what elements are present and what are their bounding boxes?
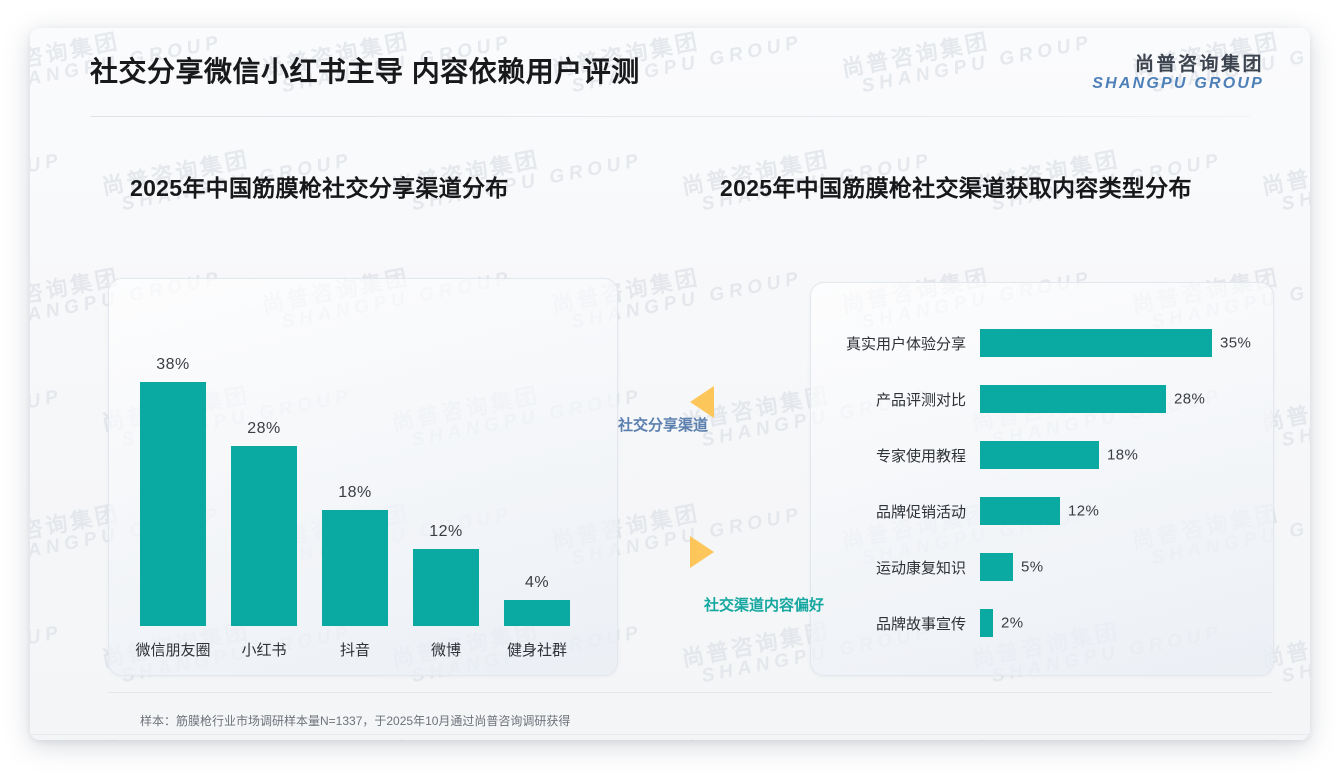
- chart-title-right: 2025年中国筋膜枪社交渠道获取内容类型分布: [720, 169, 1192, 203]
- bar-fill[interactable]: [980, 385, 1166, 413]
- column-bar-wrapper: 38%: [140, 382, 206, 626]
- bar-track: 28%: [980, 384, 1272, 414]
- bar-fill[interactable]: [980, 329, 1212, 357]
- column-category-label: 微博: [397, 639, 495, 660]
- bar-fill[interactable]: [980, 553, 1013, 581]
- slide-header: 社交分享微信小红书主导 内容依赖用户评测 尚普咨询集团 SHANGPU GROU…: [30, 28, 1310, 118]
- bar-category-label: 专家使用教程: [810, 445, 980, 466]
- watermark-text: 尚普咨询集团SHANGPU GROUP: [30, 600, 65, 690]
- bar-category-label: 运动康复知识: [810, 557, 980, 578]
- column-bar-wrapper: 4%: [504, 600, 570, 626]
- bar-track: 12%: [980, 496, 1272, 526]
- bar-row: 品牌故事宣传2%: [810, 608, 1272, 638]
- sample-footnote: 样本：筋膜枪行业市场调研样本量N=1337，于2025年10月通过尚普咨询调研获…: [140, 712, 570, 729]
- bar-row: 真实用户体验分享35%: [810, 328, 1272, 358]
- header-divider: [90, 116, 1250, 117]
- brand-logo: 尚普咨询集团 SHANGPU GROUP: [1092, 54, 1264, 93]
- column-category-label: 微信朋友圈: [124, 639, 222, 660]
- column-item: 38%微信朋友圈: [140, 278, 206, 674]
- slide-canvas: 尚普咨询集团SHANGPU GROUP尚普咨询集团SHANGPU GROUP尚普…: [30, 28, 1310, 740]
- chart-title-left: 2025年中国筋膜枪社交分享渠道分布: [130, 169, 509, 203]
- bar-category-label: 产品评测对比: [810, 389, 980, 410]
- column-bar-wrapper: 28%: [231, 446, 297, 626]
- watermark-text: 尚普咨询集团SHANGPU GROUP: [30, 364, 65, 454]
- column-bar[interactable]: [504, 600, 570, 626]
- bar-value-label: 35%: [1220, 335, 1251, 352]
- bar-track: 5%: [980, 552, 1272, 582]
- watermark-text: 尚普咨询集团SHANGPU GROUP: [1130, 718, 1310, 740]
- bar-category-label: 品牌故事宣传: [810, 613, 980, 634]
- bar-category-label: 品牌促销活动: [810, 501, 980, 522]
- column-value-label: 12%: [413, 523, 479, 541]
- annotation-label-1: 社交分享渠道: [618, 414, 708, 435]
- column-item: 18%抖音: [322, 278, 388, 674]
- watermark-text: 尚普咨询集团SHANGPU GROUP: [550, 718, 805, 740]
- triangle-right-icon: [690, 536, 714, 568]
- column-bar-wrapper: 18%: [322, 510, 388, 626]
- bar-track: 35%: [980, 328, 1272, 358]
- bar-row: 产品评测对比28%: [810, 384, 1272, 414]
- column-bar[interactable]: [231, 446, 297, 626]
- bar-chart-content-types: 真实用户体验分享35%产品评测对比28%专家使用教程18%品牌促销活动12%运动…: [810, 282, 1272, 674]
- bar-value-label: 18%: [1107, 447, 1138, 464]
- bar-fill[interactable]: [980, 609, 993, 637]
- column-bar[interactable]: [322, 510, 388, 626]
- column-category-label: 小红书: [215, 639, 313, 660]
- bar-value-label: 2%: [1001, 615, 1023, 632]
- bar-fill[interactable]: [980, 497, 1060, 525]
- column-value-label: 4%: [504, 574, 570, 592]
- column-bar[interactable]: [413, 549, 479, 626]
- column-value-label: 18%: [322, 484, 388, 502]
- bar-track: 2%: [980, 608, 1272, 638]
- page-title: 社交分享微信小红书主导 内容依赖用户评测: [90, 50, 640, 90]
- watermark-text: 尚普咨询集团SHANGPU GROUP: [30, 128, 65, 218]
- column-category-label: 抖音: [306, 639, 404, 660]
- column-item: 12%微博: [413, 278, 479, 674]
- annotation-label-2: 社交渠道内容偏好: [704, 594, 824, 615]
- logo-english-text: SHANGPU GROUP: [1092, 75, 1264, 93]
- column-bar-wrapper: 12%: [413, 549, 479, 626]
- watermark-text: 尚普咨询集团SHANGPU GROUP: [840, 718, 1095, 740]
- column-item: 4%健身社群: [504, 278, 570, 674]
- column-category-label: 健身社群: [488, 639, 586, 660]
- footer-divider: [30, 734, 1310, 735]
- column-bar[interactable]: [140, 382, 206, 626]
- logo-chinese-text: 尚普咨询集团: [1092, 54, 1264, 75]
- bar-value-label: 28%: [1174, 391, 1205, 408]
- column-item: 28%小红书: [231, 278, 297, 674]
- column-value-label: 28%: [231, 420, 297, 438]
- bar-value-label: 12%: [1068, 503, 1099, 520]
- bar-row: 专家使用教程18%: [810, 440, 1272, 470]
- bar-fill[interactable]: [980, 441, 1099, 469]
- column-chart-social-share-channels: 38%微信朋友圈28%小红书18%抖音12%微博4%健身社群: [108, 278, 616, 674]
- bar-category-label: 真实用户体验分享: [810, 333, 980, 354]
- footnote-divider: [108, 692, 1272, 693]
- bar-row: 运动康复知识5%: [810, 552, 1272, 582]
- bar-row: 品牌促销活动12%: [810, 496, 1272, 526]
- watermark-text: 尚普咨询集团SHANGPU GROUP: [1260, 128, 1310, 218]
- column-value-label: 38%: [140, 356, 206, 374]
- bar-value-label: 5%: [1021, 559, 1043, 576]
- bar-track: 18%: [980, 440, 1272, 470]
